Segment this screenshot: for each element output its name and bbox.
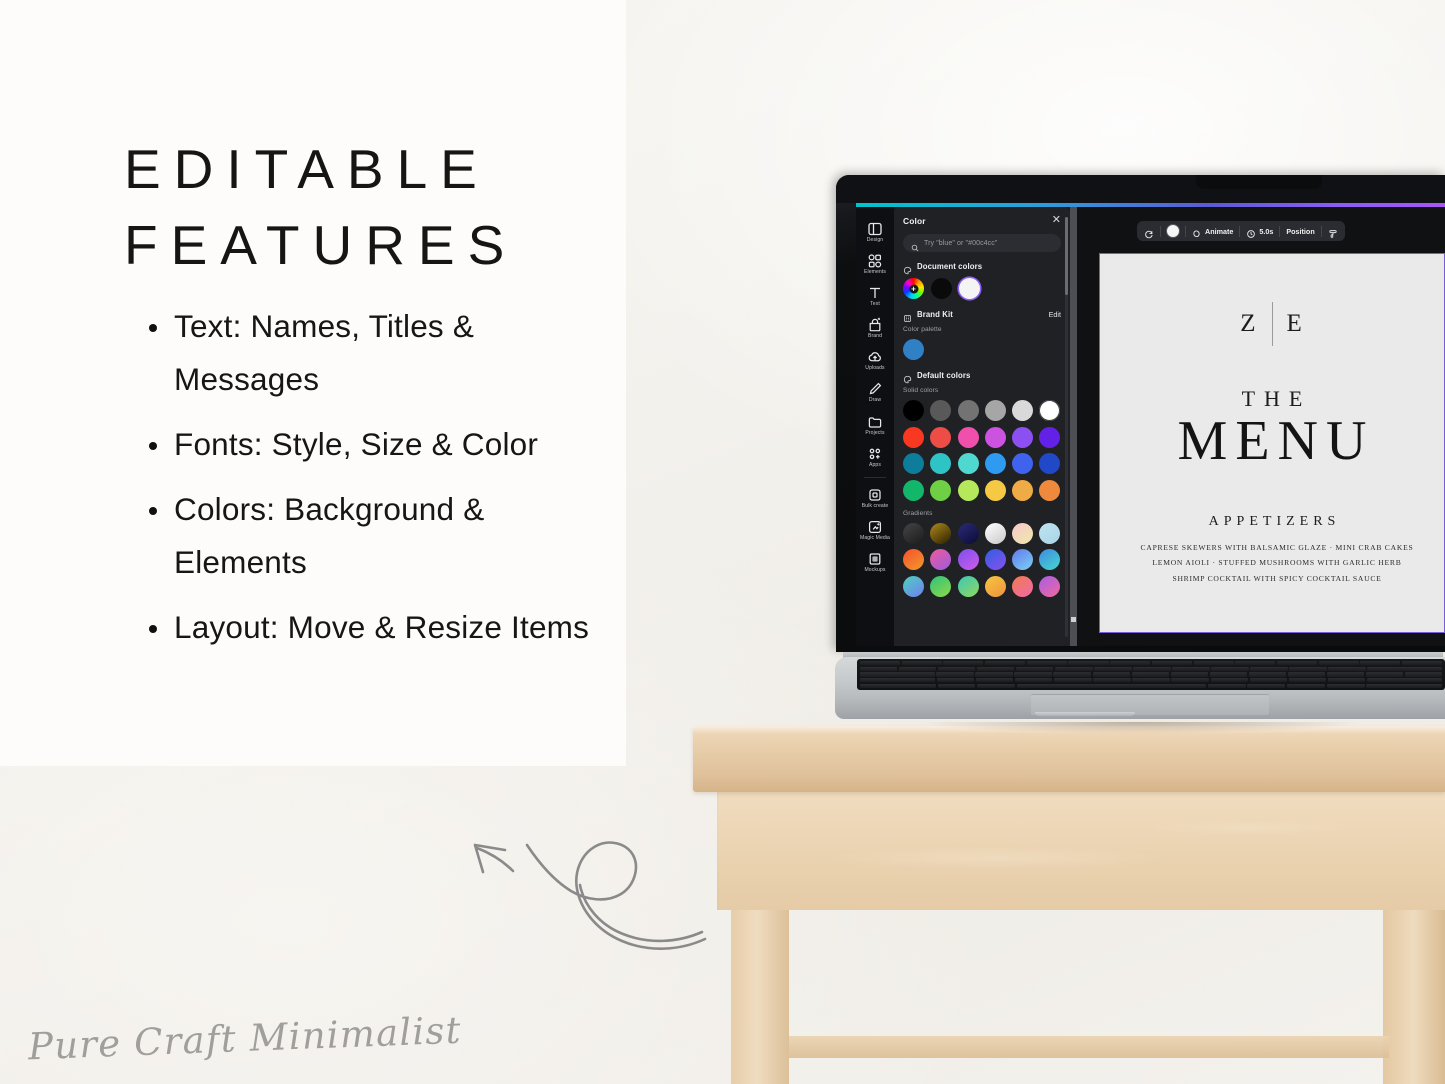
sidebar-divider: [864, 477, 886, 478]
keyboard-key: [1250, 678, 1288, 682]
keyboard-key: [1017, 684, 1207, 688]
black-swatch[interactable]: [931, 278, 952, 299]
solid-colors-label: Solid colors: [903, 387, 1061, 394]
solid-color-swatch[interactable]: [958, 427, 979, 448]
wooden-desk: [693, 726, 1445, 1084]
toolbar-divider: [1279, 226, 1280, 237]
desk-apron: [717, 792, 1445, 910]
keyboard-key: [1053, 672, 1090, 676]
solid-color-swatch[interactable]: [930, 453, 951, 474]
color-panel-scrollbar[interactable]: [1065, 217, 1068, 637]
keyboard-key: [1054, 678, 1092, 682]
keyboard-key: [1327, 684, 1365, 688]
keyboard-key: [1014, 672, 1051, 676]
menu-monogram: Z E: [1104, 302, 1440, 346]
gradients-grid[interactable]: [903, 523, 1061, 597]
folder-icon: [867, 414, 883, 430]
solid-color-swatch[interactable]: [985, 480, 1006, 501]
solid-color-swatch[interactable]: [958, 480, 979, 501]
laptop-lid: Design Elements Text: [836, 175, 1445, 652]
keyboard-key: [860, 672, 935, 676]
laptop-keyboard[interactable]: [857, 659, 1445, 690]
keyboard-row: [860, 684, 1442, 688]
solid-color-swatch[interactable]: [958, 400, 979, 421]
menu-item-line: LEMON AIOLI · STUFFED MUSHROOMS WITH GAR…: [1118, 555, 1436, 570]
keyboard-key: [977, 684, 1015, 688]
document-colors-icon: [903, 262, 912, 271]
keyboard-key: [1277, 661, 1317, 665]
color-panel-header: Color ✕: [903, 215, 1061, 226]
animate-button[interactable]: Animate: [1192, 226, 1233, 236]
solid-color-swatch[interactable]: [1012, 480, 1033, 501]
brand-kit-header: Brand Kit Edit: [903, 310, 1061, 319]
canvas-scrollbar[interactable]: [1070, 207, 1077, 646]
monogram-right: E: [1273, 310, 1318, 338]
keyboard-key: [1171, 678, 1209, 682]
keyboard-key: [1093, 678, 1131, 682]
feature-list: Text: Names, Titles & Messages Fonts: St…: [140, 300, 590, 665]
gradient-swatch[interactable]: [1012, 523, 1033, 544]
solid-color-swatch[interactable]: [903, 427, 924, 448]
solid-color-swatch[interactable]: [1012, 400, 1033, 421]
solid-color-swatch[interactable]: [1039, 400, 1060, 421]
keyboard-key: [985, 661, 1025, 665]
solid-color-swatch[interactable]: [930, 400, 951, 421]
menu-title: MENU: [1104, 413, 1440, 469]
gradient-swatch[interactable]: [958, 576, 979, 597]
keyboard-key: [977, 667, 1014, 671]
sidebar-item-projects[interactable]: Projects: [856, 410, 894, 439]
keyboard-key: [1360, 661, 1400, 665]
sidebar-label: Brand: [868, 334, 882, 339]
solid-color-swatch[interactable]: [1012, 427, 1033, 448]
add-color-glyph: +: [909, 284, 918, 293]
keyboard-key: [936, 672, 973, 676]
cloud-upload-icon: [867, 349, 883, 365]
duration-label: 5.0s: [1259, 227, 1273, 236]
laptop-front-lip: [1035, 712, 1135, 716]
search-icon: [911, 239, 919, 247]
keyboard-key: [1133, 667, 1170, 671]
keyboard-key: [860, 667, 897, 671]
sidebar-label: Apps: [869, 463, 881, 468]
gradient-swatch[interactable]: [958, 549, 979, 570]
sidebar-label: Text: [870, 302, 880, 307]
keyboard-key: [1247, 684, 1285, 688]
gradient-swatch[interactable]: [985, 549, 1006, 570]
curly-arrow-up-left-icon: [452, 782, 732, 962]
keyboard-key: [860, 678, 935, 682]
brand-kit-edit-button[interactable]: Edit: [1049, 310, 1061, 319]
gradients-label: Gradients: [903, 510, 1061, 517]
keyboard-key: [1319, 661, 1359, 665]
gradient-swatch[interactable]: [930, 523, 951, 544]
sidebar-item-bulk-create[interactable]: Bulk create: [856, 483, 894, 512]
solid-color-swatch[interactable]: [903, 400, 924, 421]
keyboard-key: [1210, 672, 1247, 676]
sidebar-item-elements[interactable]: Elements: [856, 249, 894, 278]
paint-roller-icon[interactable]: [1328, 226, 1338, 236]
laptop-body: [835, 657, 1445, 719]
gradient-swatch[interactable]: [930, 549, 951, 570]
color-search-input[interactable]: Try "blue" or "#00c4cc": [903, 234, 1061, 252]
keyboard-key: [1208, 684, 1246, 688]
document-colors-swatches: +: [903, 278, 1061, 299]
solid-color-swatch[interactable]: [985, 453, 1006, 474]
canva-editor: Design Elements Text: [856, 203, 1445, 646]
menu-document: Z E THE MENU APPETIZERS CAPRESE SKEWERS …: [1104, 258, 1440, 628]
keyboard-row: [860, 667, 1442, 671]
keyboard-key: [937, 678, 975, 682]
keyboard-key: [1367, 667, 1442, 671]
laptop-bezel: [836, 175, 1445, 203]
redo-icon[interactable]: [1144, 226, 1154, 236]
keyboard-key: [1250, 667, 1287, 671]
sidebar-item-design[interactable]: Design: [856, 217, 894, 246]
pen-icon: [867, 381, 883, 397]
brand-palette-swatches: [903, 339, 1061, 360]
keyboard-key: [902, 661, 942, 665]
animate-icon: [1192, 226, 1202, 236]
keyboard-key: [899, 667, 936, 671]
keyboard-key: [1235, 661, 1275, 665]
clock-icon: [1246, 226, 1256, 236]
keyboard-row: [860, 678, 1442, 682]
scrollbar-thumb[interactable]: [1065, 217, 1068, 295]
toolbar-divider: [1239, 226, 1240, 237]
keyboard-key: [1402, 661, 1442, 665]
keyboard-key: [1287, 684, 1325, 688]
laptop-base: [835, 652, 1445, 726]
sidebar-label: Magic Media: [860, 536, 890, 541]
sidebar-label: Uploads: [865, 366, 884, 371]
keyboard-key: [943, 661, 983, 665]
menu-item-line: SHRIMP COCKTAIL WITH SPICY COCKTAIL SAUC…: [1118, 571, 1436, 586]
default-colors-header: Default colors: [903, 371, 1061, 380]
brand-kit-icon: [903, 310, 912, 319]
menu-eyebrow: THE: [1104, 386, 1440, 412]
menu-section-title: APPETIZERS: [1104, 514, 1440, 530]
sidebar-label: Mockups: [864, 568, 885, 573]
bulk-create-icon: [867, 487, 883, 503]
gradient-swatch[interactable]: [1039, 576, 1060, 597]
apps-grid-plus-icon: [867, 446, 883, 462]
list-item: Layout: Move & Resize Items: [140, 601, 590, 654]
gradient-swatch[interactable]: [958, 523, 979, 544]
sidebar-item-text[interactable]: Text: [856, 281, 894, 310]
solid-color-swatch[interactable]: [903, 480, 924, 501]
keyboard-key: [975, 672, 1012, 676]
gradient-swatch[interactable]: [903, 576, 924, 597]
custom-color-picker[interactable]: +: [903, 278, 924, 299]
keyboard-key: [1152, 661, 1192, 665]
mockups-icon: [867, 551, 883, 567]
keyboard-key: [938, 667, 975, 671]
canva-canvas-area: Animate 5.0s Position: [1070, 207, 1445, 646]
keyboard-key: [976, 678, 1014, 682]
sidebar-label: Draw: [869, 398, 881, 403]
sidebar-item-uploads[interactable]: Uploads: [856, 345, 894, 374]
laptop-camera-notch: [1196, 175, 1322, 189]
promo-text-card: EDITABLE FEATURES Text: Names, Titles & …: [0, 0, 626, 766]
gradient-swatch[interactable]: [930, 576, 951, 597]
sidebar-item-apps[interactable]: Apps: [856, 442, 894, 471]
sidebar-label: Projects: [865, 431, 884, 436]
menu-item-line: CAPRESE SKEWERS WITH BALSAMIC GLAZE · MI…: [1118, 540, 1436, 555]
keyboard-row: [860, 661, 1442, 665]
keyboard-key: [860, 661, 900, 665]
keyboard-key: [1405, 672, 1442, 676]
toolbar-divider: [1321, 226, 1322, 237]
document-colors-header: Document colors: [903, 262, 1061, 271]
keyboard-key: [860, 684, 936, 688]
keyboard-key: [1289, 678, 1327, 682]
keyboard-key: [1367, 678, 1442, 682]
keyboard-key: [1366, 684, 1442, 688]
gradient-swatch[interactable]: [985, 523, 1006, 544]
keyboard-key: [1027, 661, 1067, 665]
title-line-1: EDITABLE: [124, 132, 594, 208]
solid-color-swatch[interactable]: [903, 453, 924, 474]
gradient-swatch[interactable]: [985, 576, 1006, 597]
keyboard-key: [1327, 672, 1364, 676]
keyboard-key: [1093, 672, 1130, 676]
list-item: Fonts: Style, Size & Color: [140, 418, 590, 471]
sidebar-item-magic-media[interactable]: Magic Media: [856, 515, 894, 544]
keyboard-key: [1194, 661, 1234, 665]
sidebar-item-brand[interactable]: Brand: [856, 313, 894, 342]
keyboard-key: [1366, 672, 1403, 676]
solid-color-swatch[interactable]: [1039, 427, 1060, 448]
color-panel: Color ✕ Try "blue" or "#00c4cc" Document…: [894, 207, 1070, 646]
gradient-swatch[interactable]: [903, 549, 924, 570]
toolbar-divider: [1185, 226, 1186, 237]
keyboard-key: [1068, 661, 1108, 665]
solid-color-swatch[interactable]: [930, 480, 951, 501]
laptop-shadow: [832, 722, 1445, 738]
toolbar-divider: [1160, 226, 1161, 237]
solid-color-swatch[interactable]: [1039, 453, 1060, 474]
page-title: EDITABLE FEATURES: [124, 132, 594, 284]
solid-color-swatch[interactable]: [958, 453, 979, 474]
keyboard-key: [1249, 672, 1286, 676]
solid-colors-grid[interactable]: [903, 400, 1061, 501]
list-item: Colors: Background & Elements: [140, 483, 590, 589]
color-palette-label: Color palette: [903, 326, 1061, 333]
keyboard-key: [1016, 667, 1053, 671]
keyboard-key: [1172, 667, 1209, 671]
gradient-swatch[interactable]: [1039, 549, 1060, 570]
color-panel-title: Color: [903, 216, 926, 226]
brand-kit-label: Brand Kit: [917, 310, 953, 319]
solid-color-swatch[interactable]: [1012, 453, 1033, 474]
keyboard-key: [1132, 672, 1169, 676]
keyboard-keys: [860, 661, 1442, 688]
keyboard-key: [1132, 678, 1170, 682]
sidebar-label: Elements: [864, 270, 886, 275]
color-search-placeholder: Try "blue" or "#00c4cc": [924, 240, 997, 247]
sidebar-label: Bulk create: [862, 504, 889, 509]
title-line-2: FEATURES: [124, 208, 594, 284]
magic-media-icon: [867, 519, 883, 535]
keyboard-key: [1289, 667, 1326, 671]
keyboard-key: [1094, 667, 1131, 671]
keyboard-key: [1110, 661, 1150, 665]
default-colors-label: Default colors: [917, 371, 970, 380]
default-colors-icon: [903, 371, 912, 380]
canva-sidebar[interactable]: Design Elements Text: [856, 207, 894, 646]
keyboard-key: [1015, 678, 1053, 682]
selected-color-swatch[interactable]: [1167, 225, 1179, 237]
monogram-left: Z: [1226, 310, 1271, 338]
gradient-swatch[interactable]: [1012, 576, 1033, 597]
duration-button[interactable]: 5.0s: [1246, 226, 1273, 236]
sidebar-item-draw[interactable]: Draw: [856, 377, 894, 406]
gradient-swatch[interactable]: [1039, 523, 1060, 544]
menu-items: CAPRESE SKEWERS WITH BALSAMIC GLAZE · MI…: [1118, 540, 1436, 586]
white-swatch[interactable]: [959, 278, 980, 299]
keyboard-key: [1288, 672, 1325, 676]
close-x-icon[interactable]: ✕: [1052, 215, 1061, 226]
keyboard-key: [1211, 667, 1248, 671]
text-t-icon: [867, 285, 883, 301]
keyboard-key: [1328, 667, 1365, 671]
sidebar-item-mockups[interactable]: Mockups: [856, 547, 894, 576]
keyboard-key: [1171, 672, 1208, 676]
gradient-swatch[interactable]: [903, 523, 924, 544]
position-button[interactable]: Position: [1286, 227, 1314, 236]
shapes-icon: [867, 253, 883, 269]
brand-crown-icon: [867, 317, 883, 333]
solid-color-swatch[interactable]: [930, 427, 951, 448]
desk-stretcher: [789, 1036, 1389, 1058]
menu-design-canvas[interactable]: Z E THE MENU APPETIZERS CAPRESE SKEWERS …: [1099, 253, 1445, 633]
keyboard-key: [1055, 667, 1092, 671]
brand-color-swatch[interactable]: [903, 339, 924, 360]
list-item: Text: Names, Titles & Messages: [140, 300, 590, 406]
sidebar-label: Design: [867, 238, 883, 243]
keyboard-key: [1328, 678, 1366, 682]
keyboard-row: [860, 672, 1442, 676]
solid-color-swatch[interactable]: [985, 400, 1006, 421]
layout-panel-icon: [867, 221, 883, 237]
gradient-swatch[interactable]: [1012, 549, 1033, 570]
laptop: Design Elements Text: [836, 175, 1445, 735]
document-colors-label: Document colors: [917, 262, 982, 271]
keyboard-key: [1211, 678, 1249, 682]
animate-label: Animate: [1205, 227, 1233, 236]
solid-color-swatch[interactable]: [1039, 480, 1060, 501]
solid-color-swatch[interactable]: [985, 427, 1006, 448]
keyboard-key: [938, 684, 976, 688]
floating-toolbar: Animate 5.0s Position: [1137, 221, 1345, 241]
